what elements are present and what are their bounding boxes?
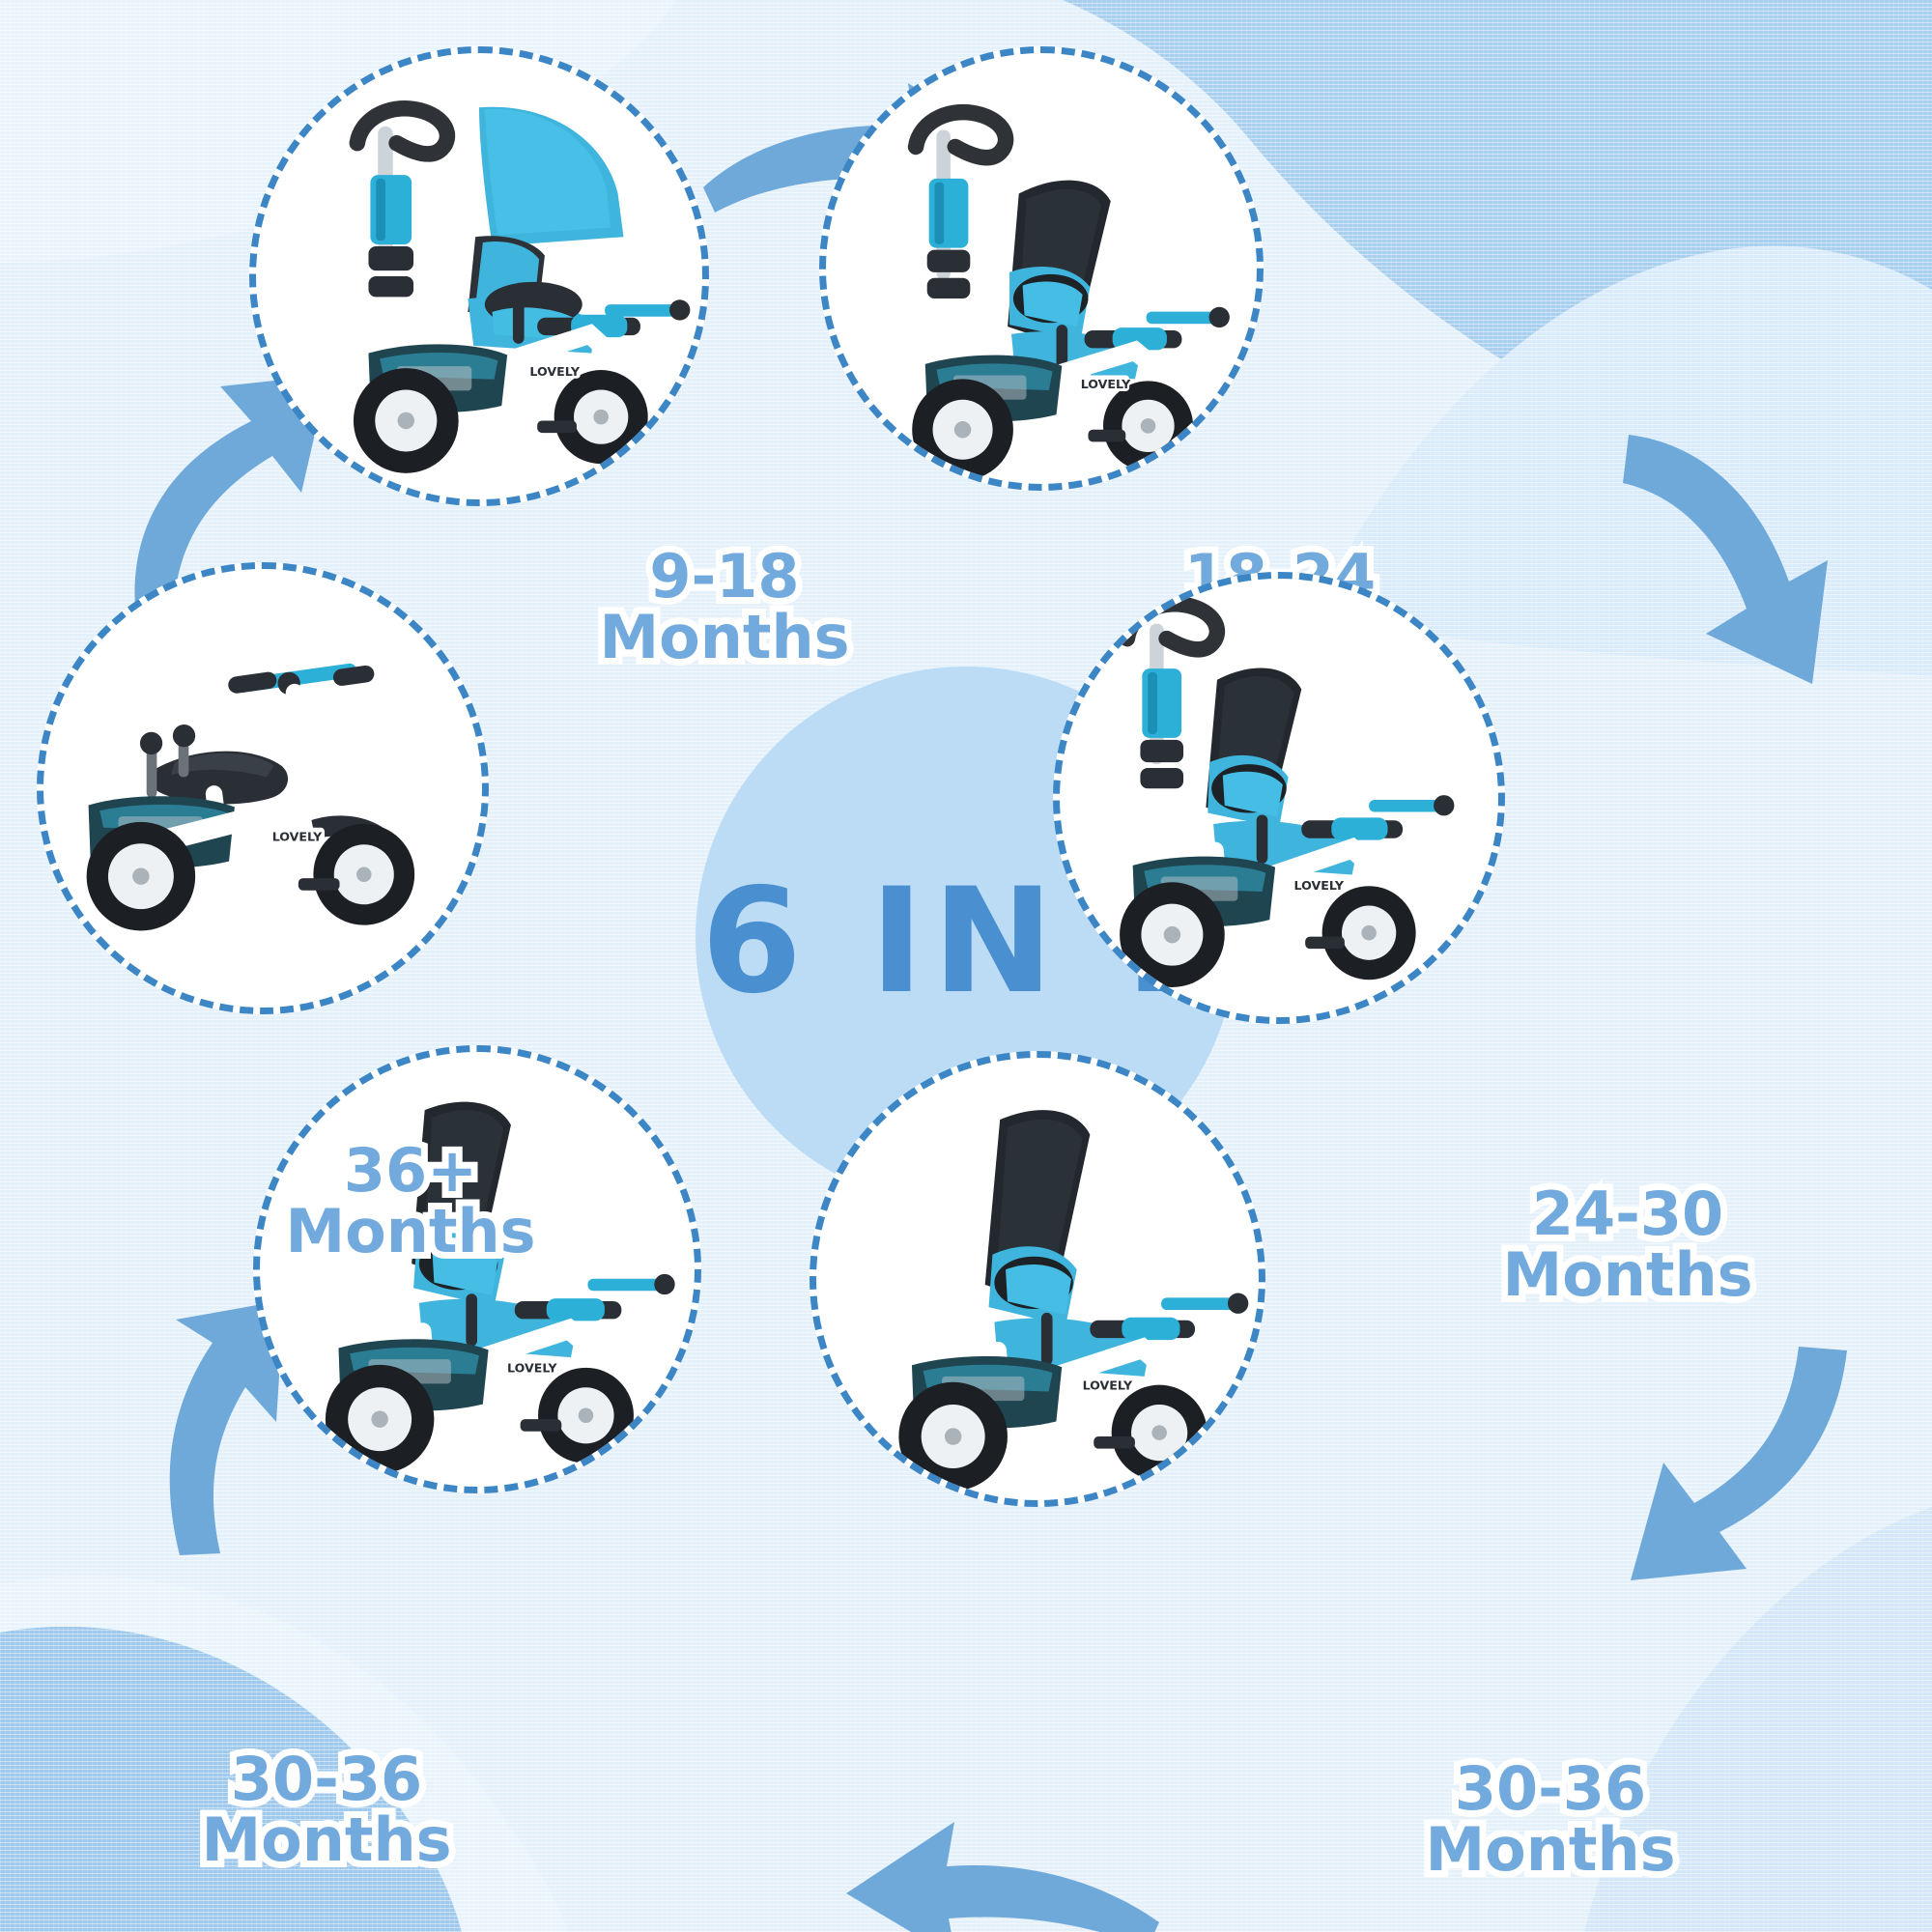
arrow-lower-right [1623, 1333, 1864, 1604]
product-photo-classic-trike: LOVELY [43, 569, 482, 1008]
age-range: 36+ [261, 1140, 560, 1201]
stage-circle-18-24[interactable]: LOVELY [819, 46, 1264, 491]
svg-text:LOVELY: LOVELY [507, 1361, 557, 1376]
age-unit: Months [172, 1809, 481, 1870]
age-unit: Months [261, 1201, 560, 1262]
svg-text:LOVELY: LOVELY [1294, 878, 1345, 893]
stage-circle-36-plus[interactable]: LOVELY [37, 562, 489, 1014]
svg-text:LOVELY: LOVELY [529, 364, 580, 379]
svg-text:LOVELY: LOVELY [1081, 377, 1131, 391]
arrow-bottom [840, 1787, 1169, 1932]
stage-label-36-plus: 36+ Months [261, 1140, 560, 1262]
stage-label-9-18: 9-18 Months [580, 546, 869, 668]
product-photo-stroller-with-canopy: LOVELY [256, 53, 702, 499]
age-unit: Months [1468, 1244, 1787, 1305]
stage-circle-24-30[interactable]: LOVELY [1053, 572, 1505, 1024]
age-range: 30-36 [172, 1748, 481, 1809]
product-photo-stroller-reclined: LOVELY [826, 53, 1257, 484]
product-photo-trike-highback: LOVELY [816, 1058, 1259, 1500]
svg-text:LOVELY: LOVELY [272, 829, 323, 843]
stage-circle-30-36-right[interactable]: LOVELY [810, 1051, 1265, 1507]
stage-label-24-30: 24-30 Months [1468, 1183, 1787, 1305]
age-range: 24-30 [1468, 1183, 1787, 1244]
age-unit: Months [1391, 1819, 1710, 1880]
age-range: 30-36 [1391, 1758, 1710, 1819]
arrow-lower-left [75, 1294, 288, 1565]
age-range: 9-18 [580, 546, 869, 607]
arrow-upper-right [1613, 415, 1845, 686]
svg-text:LOVELY: LOVELY [1083, 1378, 1133, 1393]
product-photo-trike-seat: LOVELY [260, 1052, 695, 1487]
infographic-canvas: 6 IN 1 [0, 0, 1932, 1932]
stage-label-30-36-left: 30-36 Months [172, 1748, 481, 1870]
stage-circle-30-36-left[interactable]: LOVELY [253, 1045, 701, 1493]
product-photo-push-trike: LOVELY [1060, 579, 1498, 1017]
stage-circle-9-18[interactable]: LOVELY [249, 46, 709, 506]
age-unit: Months [580, 607, 869, 668]
stage-label-30-36-right: 30-36 Months [1391, 1758, 1710, 1880]
